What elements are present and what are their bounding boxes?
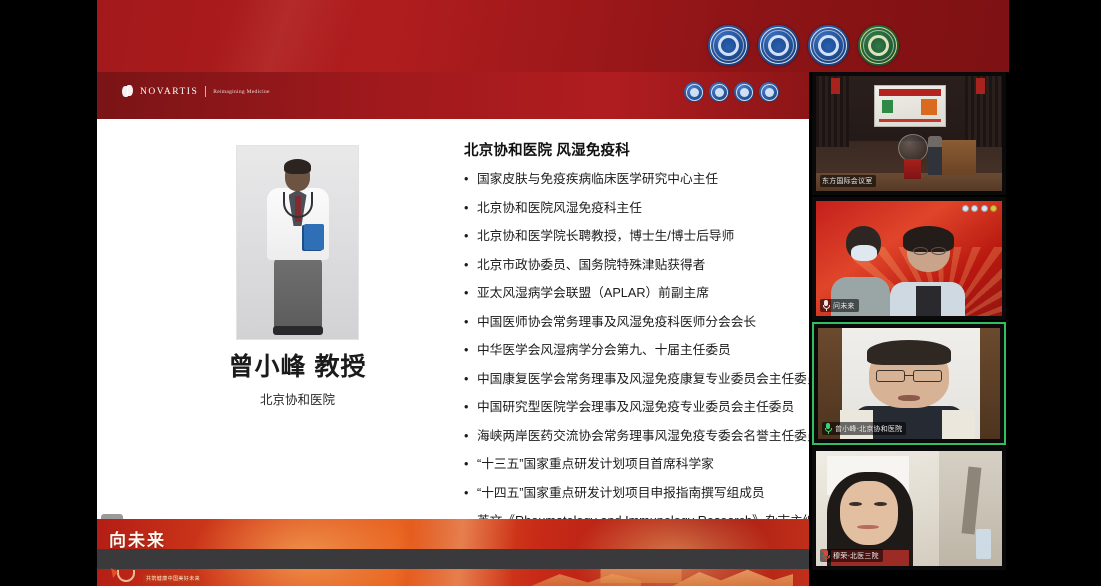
bio-item-text: 中华医学会风湿病学分会第九、十届主任委员 xyxy=(477,342,731,359)
bio-item: •中国医师协会常务理事及风湿免疫科医师分会会长 xyxy=(464,314,794,331)
bio-item-text: 国家皮肤与免疫疾病临床医学研究中心主任 xyxy=(477,171,718,188)
microphone-on-icon xyxy=(822,300,830,311)
tile-badge-4-highlight xyxy=(990,205,997,212)
logo-divider xyxy=(205,86,206,97)
podium xyxy=(939,140,976,175)
event-top-banner xyxy=(97,0,1009,72)
bio-item: •北京协和医学院长聘教授，博士生/博士后导师 xyxy=(464,228,794,245)
participant-tile-two-participants[interactable]: 问未来 xyxy=(812,197,1006,320)
novartis-tagline: Reimagining Medicine xyxy=(213,89,270,95)
tile-label: 穆荣-北医三院 xyxy=(833,551,879,561)
banner-seal-icon xyxy=(111,568,137,584)
novartis-flame-icon xyxy=(122,85,133,98)
bullet-icon: • xyxy=(464,200,477,217)
institution-emblem-3 xyxy=(808,25,849,66)
tile-badge-3 xyxy=(981,205,988,212)
bio-item-text: 中国医师协会常务理事及风湿免疫科医师分会会长 xyxy=(477,314,756,331)
letterbox-right xyxy=(1009,0,1101,586)
institution-emblem-1 xyxy=(708,25,749,66)
bullet-icon: • xyxy=(464,428,477,445)
bullet-icon: • xyxy=(464,399,477,416)
webinar-screen: NOVARTIS Reimagining Medicine xyxy=(0,0,1101,586)
speaker-photo xyxy=(236,145,359,340)
projection-screen xyxy=(874,85,947,126)
speaker-name: 曾小峰 教授 xyxy=(205,354,390,382)
shared-slide[interactable]: NOVARTIS Reimagining Medicine xyxy=(97,72,809,539)
participant-tile-strip: 东方国际会议室 xyxy=(809,72,1009,586)
slide-header-bar: NOVARTIS Reimagining Medicine xyxy=(97,72,809,119)
participant-tile-auditorium[interactable]: 东方国际会议室 xyxy=(812,72,1006,195)
tile-badge-row xyxy=(962,205,998,212)
participant-tile-speaker-zeng[interactable]: 曾小峰-北京协和医院 xyxy=(812,322,1006,445)
bio-title: 北京协和医院 风湿免疫科 xyxy=(464,139,794,160)
face-mask xyxy=(851,245,877,261)
event-bottom-banner: 向未来 共筑健康中国美好未来 xyxy=(97,519,809,586)
bio-item: •中国康复医学会常务理事及风湿免疫康复专业委员会主任委员 xyxy=(464,371,794,388)
bio-item: •中国研究型医院学会理事及风湿免疫专业委员会主任委员 xyxy=(464,399,794,416)
microphone-speaking-icon xyxy=(824,423,832,434)
bio-item-text: 北京市政协委员、国务院特殊津贴获得者 xyxy=(477,257,705,274)
tile-label: 东方国际会议室 xyxy=(822,176,872,186)
participant-tile-participant-mu[interactable]: 穆荣-北医三院 xyxy=(812,447,1006,570)
novartis-wordmark: NOVARTIS xyxy=(140,87,198,97)
tile-name-tag: 曾小峰-北京协和医院 xyxy=(822,422,906,435)
institution-emblem-row xyxy=(708,25,899,66)
banner-subtext: 共筑健康中国美好未来 xyxy=(143,574,203,583)
bio-item: •北京市政协委员、国务院特殊津贴获得者 xyxy=(464,257,794,274)
bio-item: •海峡两岸医药交流协会常务理事风湿免疫专委会名誉主任委员 xyxy=(464,428,794,445)
slide-body: 曾小峰 教授 北京协和医院 北京协和医院 风湿免疫科 •国家皮肤与免疫疾病临床医… xyxy=(97,119,809,539)
tile-name-tag: 东方国际会议室 xyxy=(820,175,876,187)
bio-item: •国家皮肤与免疫疾病临床医学研究中心主任 xyxy=(464,171,794,188)
bullet-icon: • xyxy=(464,171,477,188)
tile-label: 曾小峰-北京协和医院 xyxy=(835,424,902,434)
bio-item: •北京协和医院风湿免疫科主任 xyxy=(464,200,794,217)
banner-calligraphy: 向未来 xyxy=(109,526,166,551)
tile-label: 问未来 xyxy=(833,301,855,311)
institution-emblem-2 xyxy=(758,25,799,66)
speaker-affiliation: 北京协和医院 xyxy=(205,389,390,408)
bullet-icon: • xyxy=(464,456,477,473)
bullet-icon: • xyxy=(464,257,477,274)
slide-header-emblem-row xyxy=(684,82,779,102)
bio-item-text: 北京协和医学院长聘教授，博士生/博士后导师 xyxy=(477,228,734,245)
slide-emblem-4 xyxy=(759,82,779,102)
bullet-icon: • xyxy=(464,342,477,359)
bio-item-text: 海峡两岸医药交流协会常务理事风湿免疫专委会名誉主任委员 xyxy=(477,428,809,445)
bio-item-text: “十四五”国家重点研发计划项目申报指南撰写组成员 xyxy=(477,485,765,502)
tile-name-tag: 穆荣-北医三院 xyxy=(820,549,883,562)
slide-emblem-1 xyxy=(684,82,704,102)
microphone-muted-icon xyxy=(822,550,830,561)
bullet-icon: • xyxy=(464,371,477,388)
tile-name-tag: 问未来 xyxy=(820,299,859,312)
bio-item-text: 亚太风湿病学会联盟（APLAR）前副主席 xyxy=(477,285,709,302)
letterbox-left xyxy=(0,0,97,586)
glasses-right-lens xyxy=(913,370,942,382)
stage-trophy xyxy=(898,134,928,180)
tile-badge-1 xyxy=(962,205,969,212)
bullet-icon: • xyxy=(464,314,477,331)
bio-item-text: “十三五”国家重点研发计划项目首席科学家 xyxy=(477,456,714,473)
bullet-icon: • xyxy=(464,485,477,502)
glasses-left-lens xyxy=(876,370,905,382)
speaker-portrait-block: 曾小峰 教授 北京协和医院 xyxy=(205,145,390,408)
bullet-icon: • xyxy=(464,285,477,302)
bio-item: •“十四五”国家重点研发计划项目申报指南撰写组成员 xyxy=(464,485,794,502)
bio-item: •亚太风湿病学会联盟（APLAR）前副主席 xyxy=(464,285,794,302)
bullet-icon: • xyxy=(464,228,477,245)
banner-sheen xyxy=(97,0,558,72)
banner-occluding-strip xyxy=(97,549,809,569)
institution-emblem-4 xyxy=(858,25,899,66)
bio-item-text: 北京协和医院风湿免疫科主任 xyxy=(477,200,642,217)
slide-emblem-3 xyxy=(734,82,754,102)
stethoscope-icon xyxy=(283,192,313,218)
bio-item: •“十三五”国家重点研发计划项目首席科学家 xyxy=(464,456,794,473)
tile-badge-2 xyxy=(971,205,978,212)
slide-emblem-2 xyxy=(709,82,729,102)
glasses-left-lens xyxy=(913,247,928,255)
novartis-logo: NOVARTIS Reimagining Medicine xyxy=(122,85,270,98)
bio-item: •中华医学会风湿病学分会第九、十届主任委员 xyxy=(464,342,794,359)
speaker-bio: 北京协和医院 风湿免疫科 •国家皮肤与免疫疾病临床医学研究中心主任•北京协和医院… xyxy=(464,139,794,539)
bio-list: •国家皮肤与免疫疾病临床医学研究中心主任•北京协和医院风湿免疫科主任•北京协和医… xyxy=(464,171,794,530)
bio-item-text: 中国研究型医院学会理事及风湿免疫专业委员会主任委员 xyxy=(477,399,794,416)
bio-item-text: 中国康复医学会常务理事及风湿免疫康复专业委员会主任委员 xyxy=(477,371,809,388)
